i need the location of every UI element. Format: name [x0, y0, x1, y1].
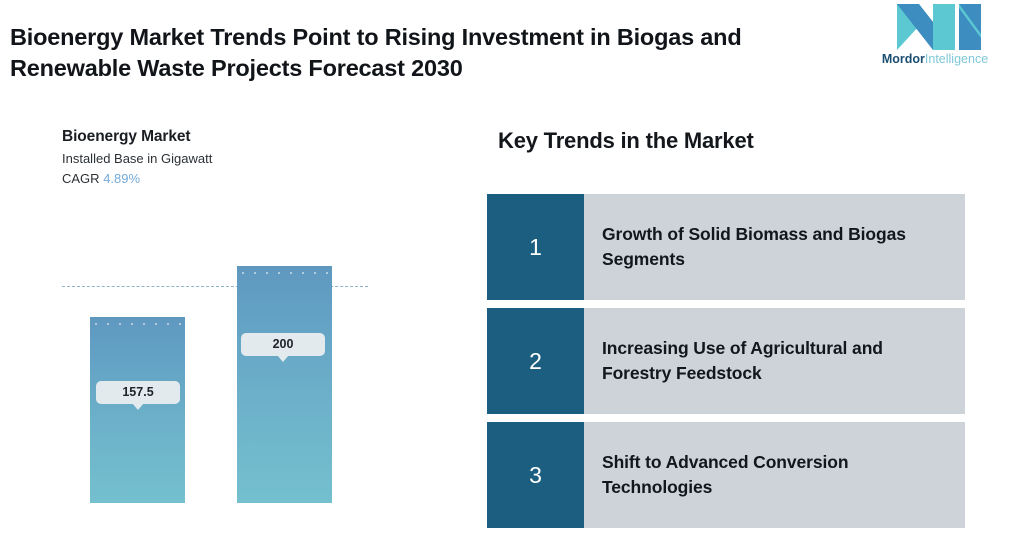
trend-text-3: Shift to Advanced Conversion Technologie…	[584, 422, 965, 528]
brand-logo: MordorIntelligence	[875, 4, 995, 70]
trend-text-1: Growth of Solid Biomass and Biogas Segme…	[584, 194, 965, 300]
chart-cagr: CAGR 4.89%	[62, 171, 140, 186]
trend-row: 1 Growth of Solid Biomass and Biogas Seg…	[487, 194, 965, 300]
brand-wordmark: MordorIntelligence	[875, 52, 995, 66]
trend-number-3: 3	[487, 422, 584, 528]
trend-row: 2 Increasing Use of Agricultural and For…	[487, 308, 965, 414]
cagr-value: 4.89%	[103, 171, 140, 186]
trends-title: Key Trends in the Market	[498, 128, 754, 154]
chart-title: Bioenergy Market	[62, 128, 190, 146]
slide-canvas: Bioenergy Market Trends Point to Rising …	[0, 0, 1030, 555]
key-trends-list: 1 Growth of Solid Biomass and Biogas Seg…	[487, 194, 965, 536]
cagr-label: CAGR	[62, 171, 100, 186]
trend-number-1: 1	[487, 194, 584, 300]
chart-subtitle: Installed Base in Gigawatt	[62, 151, 212, 166]
trend-text-2: Increasing Use of Agricultural and Fores…	[584, 308, 965, 414]
bar-2025	[90, 317, 185, 503]
mordor-m-icon	[875, 4, 995, 50]
bar-value-label-2025: 157.5	[96, 381, 180, 404]
bar-top-dots-2025	[90, 321, 185, 327]
page-title: Bioenergy Market Trends Point to Rising …	[10, 22, 800, 84]
trend-row: 3 Shift to Advanced Conversion Technolog…	[487, 422, 965, 528]
trend-number-2: 2	[487, 308, 584, 414]
bar-top-dots-2030	[237, 270, 332, 276]
bar-2030	[237, 266, 332, 503]
brand-word-intelligence: Intelligence	[925, 52, 988, 66]
bar-value-label-2030: 200	[241, 333, 325, 356]
bioenergy-chart-panel: Bioenergy Market Installed Base in Gigaw…	[0, 118, 470, 555]
brand-word-mordor: Mordor	[882, 52, 925, 66]
